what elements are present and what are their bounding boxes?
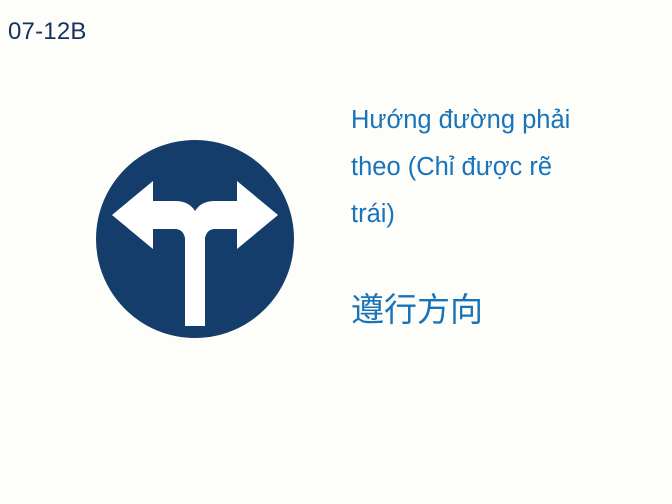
caption-line-3: trái) [351,191,651,238]
flashcard-slide: 07-12B Hướng đường phải theo (Chỉ được r… [0,0,672,504]
caption-line-2: theo (Chỉ được rẽ [351,144,651,191]
caption-vietnamese: Hướng đường phải theo (Chỉ được rẽ trái) [351,97,651,238]
traffic-sign-image [95,139,295,339]
mandatory-direction-sign-icon [95,139,295,339]
caption-chinese: 遵行方向 [351,288,651,332]
caption-line-1: Hướng đường phải [351,97,651,144]
sign-code-label: 07-12B [8,18,87,46]
